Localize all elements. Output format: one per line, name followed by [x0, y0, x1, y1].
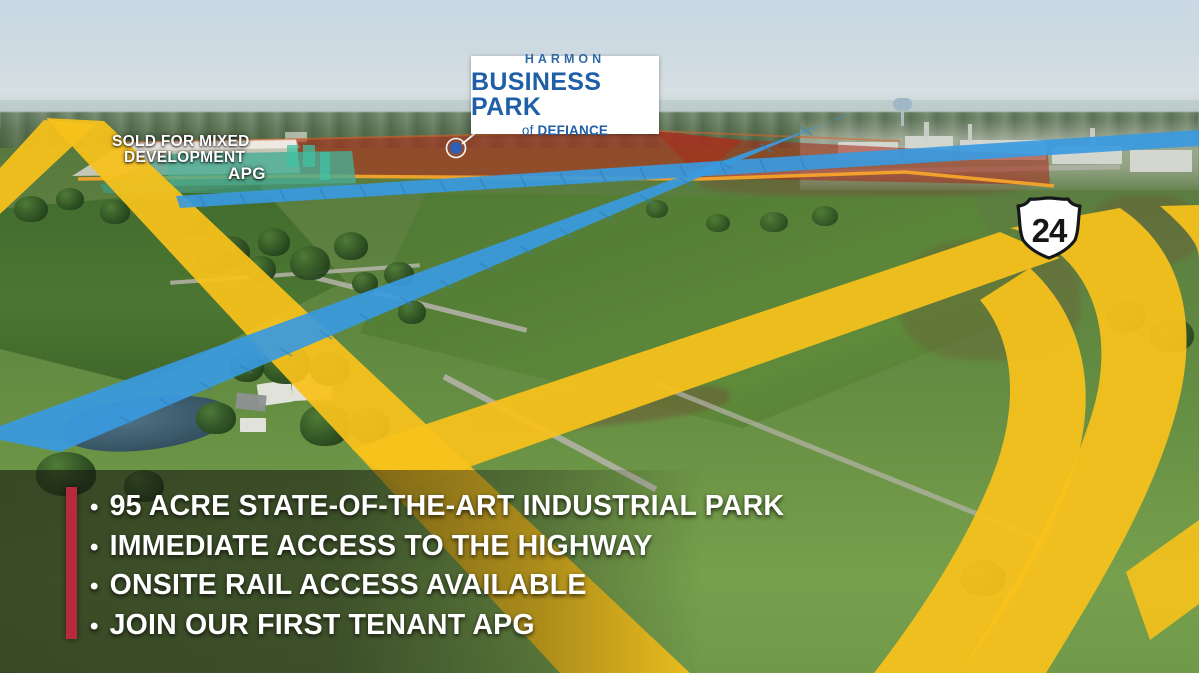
bullet-dot-icon: •	[90, 615, 99, 639]
sign-line-business-park: BUSINESS PARK	[471, 70, 659, 120]
sold-parcel-label-line1: SOLD FOR MIXED	[112, 134, 322, 150]
aerial-property-promo-image: HARMON BUSINESS PARK of DEFIANCE 24 SOLD…	[0, 0, 1199, 673]
sign-of-word: of	[522, 123, 538, 138]
plant-building	[838, 142, 898, 160]
us-route-24-shield[interactable]: 24	[1014, 196, 1084, 260]
business-park-sign-callout[interactable]: HARMON BUSINESS PARK of DEFIANCE	[471, 56, 659, 134]
plant-building	[1052, 146, 1122, 164]
plant-smokestack	[924, 122, 929, 142]
list-item: • IMMEDIATE ACCESS TO THE HIGHWAY	[90, 532, 690, 561]
plant-building	[960, 140, 1046, 160]
sold-parcel-label-line2: DEVELOPMENT	[112, 150, 322, 166]
sign-line-of-defiance: of DEFIANCE	[522, 124, 608, 138]
tree	[100, 200, 130, 224]
list-item: • 95 ACRE STATE-OF-THE-ART INDUSTRIAL PA…	[90, 492, 690, 521]
tree	[14, 196, 48, 222]
tree	[182, 214, 208, 236]
apg-parcel-label: APG	[228, 165, 266, 182]
route-number-label: 24	[1014, 196, 1084, 260]
tree	[246, 256, 276, 282]
sign-line-harmon: HARMON	[525, 53, 605, 66]
tree	[352, 272, 378, 294]
sold-parcel-label: SOLD FOR MIXED DEVELOPMENT	[112, 134, 322, 166]
tree	[1150, 318, 1194, 352]
bullet-list: • 95 ACRE STATE-OF-THE-ART INDUSTRIAL PA…	[90, 492, 690, 639]
tree	[262, 344, 310, 384]
tree	[310, 352, 350, 386]
farm-outbuilding	[240, 418, 266, 432]
feature-bullet-list: • 95 ACRE STATE-OF-THE-ART INDUSTRIAL PA…	[90, 492, 690, 650]
tree	[56, 188, 84, 210]
bullet-text: JOIN OUR FIRST TENANT APG	[110, 611, 535, 640]
tree	[1106, 300, 1146, 332]
bullet-text: IMMEDIATE ACCESS TO THE HIGHWAY	[110, 532, 653, 561]
plant-building	[1130, 150, 1192, 172]
farm-outbuilding	[235, 392, 267, 411]
tree	[398, 300, 426, 324]
bullet-text: 95 ACRE STATE-OF-THE-ART INDUSTRIAL PARK	[110, 492, 785, 521]
plant-smokestack	[1090, 128, 1095, 148]
bullet-dot-icon: •	[90, 536, 99, 560]
water-tower	[893, 98, 912, 126]
tree	[258, 228, 290, 256]
bullet-panel-accent-bar	[66, 487, 77, 639]
tree	[760, 212, 788, 232]
sign-city-name: DEFIANCE	[538, 123, 609, 138]
tree	[350, 408, 390, 442]
tree	[960, 560, 1006, 596]
tree	[196, 402, 236, 434]
plant-building	[905, 136, 953, 160]
list-item: • JOIN OUR FIRST TENANT APG	[90, 611, 690, 640]
bullet-dot-icon: •	[90, 575, 99, 599]
tree	[812, 206, 838, 226]
tree	[706, 214, 730, 232]
tree	[300, 404, 350, 446]
tree	[334, 232, 368, 260]
plant-smokestack	[968, 124, 972, 142]
tree	[230, 352, 264, 382]
tree	[196, 246, 232, 274]
tree	[384, 262, 414, 286]
tree	[646, 200, 668, 218]
list-item: • ONSITE RAIL ACCESS AVAILABLE	[90, 571, 690, 600]
bullet-dot-icon: •	[90, 496, 99, 520]
bullet-text: ONSITE RAIL ACCESS AVAILABLE	[110, 571, 587, 600]
tree	[290, 246, 330, 280]
soil-patch	[1090, 195, 1199, 265]
